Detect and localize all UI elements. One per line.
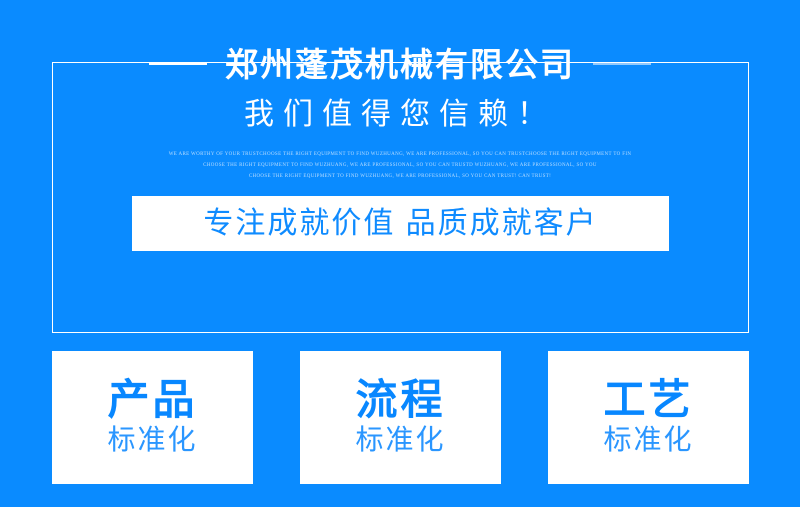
feature-card-title: 流程 xyxy=(355,378,445,422)
slogan-box: 专注成就价值 品质成就客户 xyxy=(132,196,669,251)
english-tagline-block: WE ARE WORTHY OF YOUR TRUSTCHOOSE THE RI… xyxy=(0,149,800,182)
slogan-text: 专注成就价值 品质成就客户 xyxy=(203,209,597,239)
feature-card-title: 工艺 xyxy=(603,378,693,422)
feature-card-product[interactable]: 产品 标准化 xyxy=(52,351,253,484)
english-tagline-line: WE ARE WORTHY OF YOUR TRUSTCHOOSE THE RI… xyxy=(0,149,800,160)
divider-line-left xyxy=(149,63,207,65)
subtitle: 我们值得您信赖！ xyxy=(0,98,800,131)
headline-row: 郑州蓬茂机械有限公司 xyxy=(0,40,800,88)
company-title: 郑州蓬茂机械有限公司 xyxy=(225,48,575,81)
feature-card-subtitle: 标准化 xyxy=(603,424,693,456)
feature-card-process[interactable]: 流程 标准化 xyxy=(300,351,501,484)
promo-banner: 郑州蓬茂机械有限公司 我们值得您信赖！ WE ARE WORTHY OF YOU… xyxy=(0,0,800,507)
english-tagline-line: CHOOSE THE RIGHT EQUIPMENT TO FIND WUZHU… xyxy=(0,160,800,171)
feature-card-subtitle: 标准化 xyxy=(355,424,445,456)
english-tagline-line: CHOOSE THE RIGHT EQUIPMENT TO FIND WUZHU… xyxy=(0,171,800,182)
feature-card-craft[interactable]: 工艺 标准化 xyxy=(548,351,749,484)
feature-card-subtitle: 标准化 xyxy=(107,424,197,456)
feature-card-title: 产品 xyxy=(107,378,197,422)
divider-line-right xyxy=(593,63,651,65)
feature-card-list: 产品 标准化 流程 标准化 工艺 标准化 xyxy=(52,351,749,484)
